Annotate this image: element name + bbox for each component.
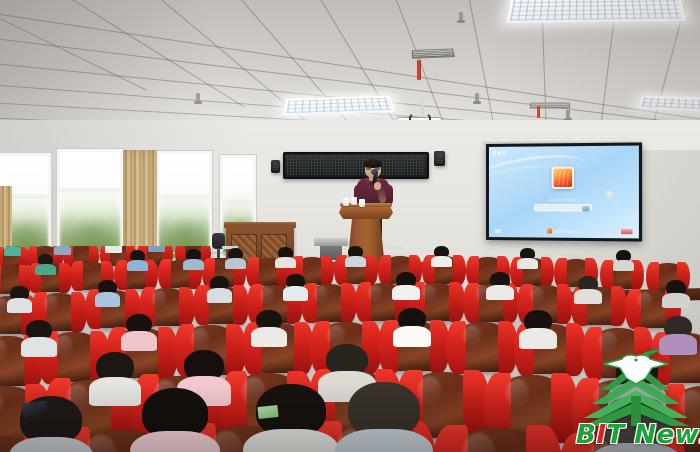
wallpaper-glow bbox=[604, 189, 614, 199]
login-username: Administrator bbox=[550, 198, 575, 202]
person-torso bbox=[574, 289, 601, 304]
audience-person bbox=[524, 310, 552, 345]
audience-person bbox=[126, 314, 152, 347]
side-table bbox=[314, 238, 348, 246]
person-torso bbox=[393, 326, 431, 347]
paper-cup bbox=[343, 198, 349, 206]
pine-tree-dove-logo bbox=[576, 348, 696, 426]
person-torso bbox=[392, 285, 419, 300]
audience-person bbox=[130, 250, 145, 269]
window-glass bbox=[159, 154, 209, 259]
audience-person bbox=[38, 254, 53, 273]
person-torso bbox=[148, 246, 166, 252]
paper-cup bbox=[359, 199, 365, 207]
person-torso bbox=[662, 293, 689, 308]
person-torso bbox=[225, 258, 245, 269]
password-field[interactable] bbox=[534, 204, 592, 211]
wall-speaker-right bbox=[434, 151, 445, 166]
person-torso bbox=[613, 260, 633, 271]
audience-person bbox=[664, 316, 692, 351]
microphone-head bbox=[371, 169, 378, 175]
seat[interactable] bbox=[442, 428, 552, 452]
wooden-podium-top bbox=[339, 205, 393, 219]
person-torso bbox=[89, 377, 141, 406]
person-torso bbox=[21, 337, 56, 357]
person-torso bbox=[9, 437, 93, 452]
person-torso bbox=[7, 298, 33, 312]
audience-person bbox=[256, 310, 282, 343]
person-torso bbox=[431, 256, 451, 267]
audience-person bbox=[142, 388, 208, 452]
window-mullion bbox=[223, 201, 253, 203]
audience-person bbox=[98, 280, 117, 304]
audience-person bbox=[228, 248, 243, 267]
audience-person bbox=[348, 246, 363, 265]
person-torso bbox=[386, 246, 402, 249]
windows-logo-icon bbox=[547, 228, 552, 233]
screen-top-left-text bbox=[493, 150, 505, 154]
ease-of-access-label[interactable]: Ease of Access bbox=[547, 228, 579, 233]
person-torso bbox=[243, 429, 338, 452]
window-glass bbox=[60, 152, 120, 260]
audience-person bbox=[520, 248, 535, 267]
audience-person bbox=[578, 276, 598, 301]
person-torso bbox=[283, 286, 309, 300]
ease-of-access-icon[interactable] bbox=[495, 229, 501, 233]
projection-screen[interactable]: Administrator Ease of Access bbox=[486, 142, 642, 241]
audience-person bbox=[150, 246, 163, 250]
audience-person bbox=[210, 276, 229, 300]
person-torso bbox=[4, 246, 22, 256]
audience-person bbox=[490, 272, 510, 297]
audience-person bbox=[107, 246, 120, 251]
audience-person bbox=[616, 250, 631, 269]
audience-person bbox=[26, 320, 52, 353]
led-display-board bbox=[283, 152, 429, 179]
person-torso bbox=[275, 257, 295, 268]
window-mullion bbox=[159, 195, 209, 198]
user-account-tile[interactable] bbox=[552, 166, 575, 188]
audience-person bbox=[186, 249, 201, 268]
watermark-text-i: I bbox=[596, 420, 606, 450]
person-torso bbox=[105, 246, 123, 253]
person-torso bbox=[127, 260, 147, 271]
watermark-text: BIT News bbox=[576, 420, 696, 450]
audience-person bbox=[396, 272, 416, 297]
person-torso bbox=[335, 429, 433, 452]
audience-person bbox=[666, 280, 686, 305]
person-torso bbox=[130, 431, 220, 452]
person-torso bbox=[517, 258, 537, 269]
seat[interactable] bbox=[452, 322, 512, 372]
lecture-hall-photo: Administrator Ease of Access bbox=[0, 0, 700, 452]
person-torso bbox=[345, 256, 365, 267]
audience-person bbox=[388, 246, 400, 247]
person-torso bbox=[121, 331, 156, 351]
avatar-texture bbox=[556, 170, 570, 184]
shutdown-icon[interactable] bbox=[621, 229, 633, 234]
person-torso bbox=[486, 285, 513, 300]
person-torso bbox=[35, 264, 55, 275]
audience-person bbox=[10, 286, 29, 310]
audience-person bbox=[224, 246, 236, 247]
person-torso bbox=[251, 327, 286, 347]
audience-person bbox=[434, 246, 449, 265]
audience-person bbox=[398, 308, 426, 343]
person-torso bbox=[54, 246, 72, 255]
paper-cup bbox=[351, 197, 357, 205]
audience-person bbox=[348, 382, 420, 452]
window-mullion bbox=[60, 189, 120, 192]
watermark-text-rest: T News bbox=[607, 420, 700, 450]
audience-person bbox=[278, 247, 293, 266]
audience-person bbox=[6, 246, 19, 254]
seat[interactable] bbox=[306, 284, 352, 322]
person-torso bbox=[183, 259, 203, 270]
presenter-hand bbox=[374, 182, 381, 190]
person-torso bbox=[207, 288, 233, 302]
audience-person bbox=[286, 274, 305, 298]
person-torso bbox=[519, 328, 557, 349]
bit-news-watermark: BIT News bbox=[576, 352, 696, 448]
person-torso bbox=[95, 292, 121, 306]
watermark-text-b: B bbox=[576, 420, 596, 450]
audience-person bbox=[56, 246, 69, 253]
led-mesh bbox=[287, 156, 425, 175]
wall-speaker-left bbox=[271, 160, 280, 173]
projected-login-screen: Administrator Ease of Access bbox=[489, 146, 639, 239]
audience-person bbox=[96, 352, 134, 400]
arrow-right-icon[interactable] bbox=[582, 206, 589, 211]
notebook bbox=[257, 405, 278, 419]
